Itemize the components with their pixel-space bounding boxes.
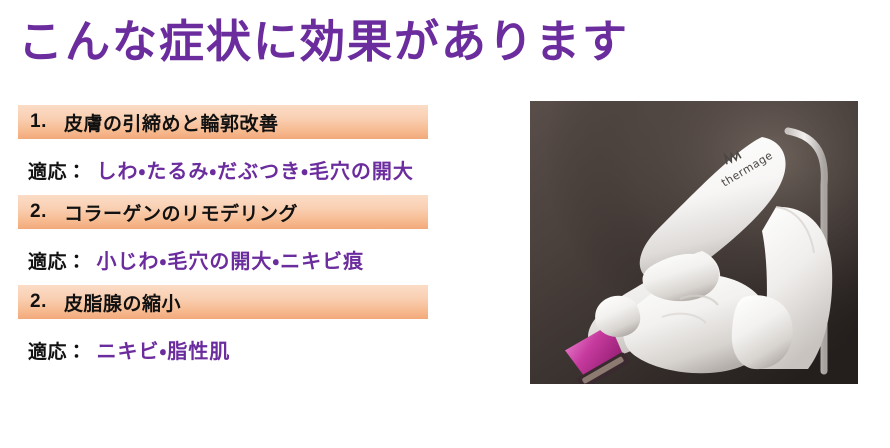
adaptation-value: 小じわ・毛穴の開大・ニキビ痕 [87, 245, 365, 274]
symptom-heading-3: 2. 皮脂腺の縮小 [18, 285, 428, 319]
adaptation-value: ニキビ・脂性肌 [87, 335, 231, 364]
symptom-list: 1. 皮膚の引締めと輪郭改善 適応： しわ・たるみ・だぶつき・毛穴の開大 2. … [18, 105, 478, 361]
symptom-heading-2: 2. コラーゲンのリモデリング [18, 195, 428, 229]
symptom-title: コラーゲンのリモデリング [64, 199, 298, 226]
adaptation-row-3: 適応： ニキビ・脂性肌 [18, 319, 478, 361]
list-item: 1. 皮膚の引締めと輪郭改善 適応： しわ・たるみ・だぶつき・毛穴の開大 [18, 105, 478, 181]
symptom-number: 1. [30, 111, 64, 133]
device-photo: thermage [530, 101, 858, 384]
device-photo-illustration: thermage [530, 101, 858, 384]
page-title: こんな症状に効果があります [18, 14, 629, 70]
adaptation-value: しわ・たるみ・だぶつき・毛穴の開大 [87, 155, 414, 184]
symptom-number: 2. [30, 201, 64, 223]
symptom-title: 皮膚の引締めと輪郭改善 [64, 109, 279, 136]
adaptation-row-2: 適応： 小じわ・毛穴の開大・ニキビ痕 [18, 229, 478, 271]
symptom-heading-1: 1. 皮膚の引締めと輪郭改善 [18, 105, 428, 139]
adaptation-row-1: 適応： しわ・たるみ・だぶつき・毛穴の開大 [18, 139, 478, 181]
adaptation-label: 適応： [28, 157, 87, 184]
adaptation-label: 適応： [28, 337, 87, 364]
symptom-number: 2. [30, 291, 64, 313]
list-item: 2. 皮脂腺の縮小 適応： ニキビ・脂性肌 [18, 285, 478, 361]
symptom-title: 皮脂腺の縮小 [64, 289, 181, 316]
list-item: 2. コラーゲンのリモデリング 適応： 小じわ・毛穴の開大・ニキビ痕 [18, 195, 478, 271]
adaptation-label: 適応： [28, 247, 87, 274]
